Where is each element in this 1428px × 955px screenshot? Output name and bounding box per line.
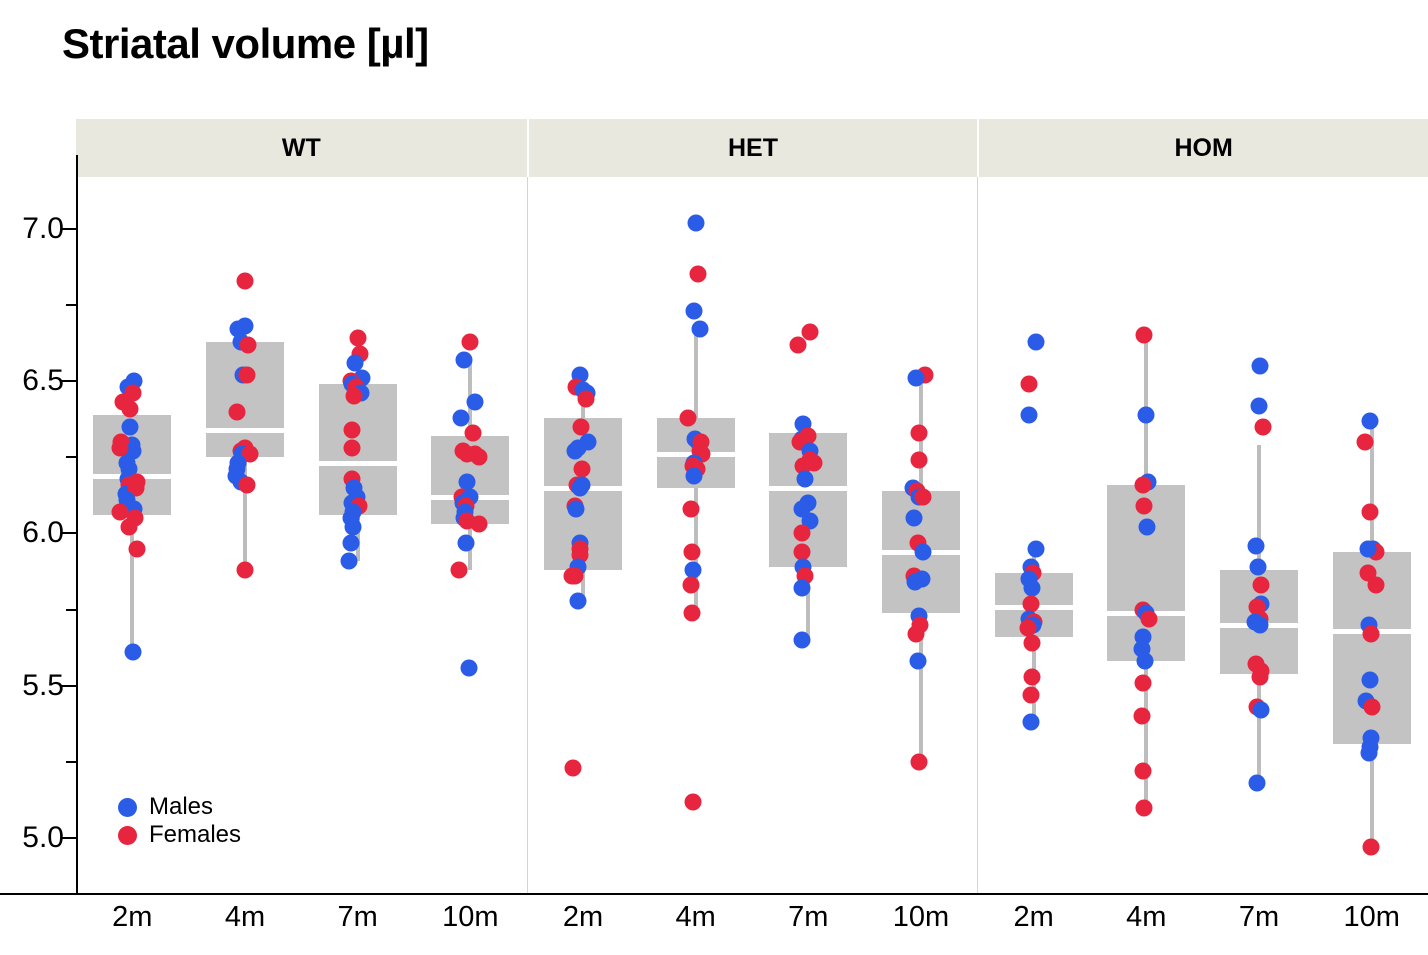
x-tick-label: 4m bbox=[676, 901, 716, 934]
data-point-male bbox=[1027, 540, 1044, 557]
y-tick-major bbox=[62, 228, 76, 230]
data-point-female bbox=[1136, 498, 1153, 515]
data-point-female bbox=[1367, 577, 1384, 594]
data-point-male bbox=[1359, 540, 1376, 557]
data-point-female bbox=[239, 367, 256, 384]
data-point-male bbox=[684, 562, 701, 579]
y-tick-minor bbox=[66, 761, 76, 763]
data-point-female bbox=[229, 403, 246, 420]
data-point-female bbox=[1356, 434, 1373, 451]
y-tick-major bbox=[62, 837, 76, 839]
data-point-female bbox=[679, 409, 696, 426]
x-tick-label: 10m bbox=[893, 901, 949, 934]
data-point-male bbox=[1250, 558, 1267, 575]
data-point-female bbox=[1135, 674, 1152, 691]
panel-divider bbox=[977, 177, 978, 893]
x-tick-label: 7m bbox=[338, 901, 378, 934]
y-axis-line bbox=[76, 155, 78, 893]
data-point-male bbox=[1361, 671, 1378, 688]
data-point-male bbox=[797, 470, 814, 487]
data-point-female bbox=[682, 577, 699, 594]
facet-strip-hom: HOM bbox=[979, 119, 1428, 177]
data-point-female bbox=[794, 525, 811, 542]
data-point-male bbox=[344, 519, 361, 536]
data-point-female bbox=[578, 391, 595, 408]
data-point-female bbox=[911, 424, 928, 441]
data-point-female bbox=[915, 488, 932, 505]
data-point-male bbox=[340, 552, 357, 569]
x-tick-label: 7m bbox=[788, 901, 828, 934]
data-point-female bbox=[1255, 418, 1272, 435]
data-point-female bbox=[343, 421, 360, 438]
data-point-male bbox=[910, 653, 927, 670]
data-point-female bbox=[682, 501, 699, 518]
legend-swatch-m bbox=[118, 798, 137, 817]
facet-label: HET bbox=[728, 134, 778, 163]
data-point-female bbox=[471, 516, 488, 533]
data-point-male bbox=[567, 443, 584, 460]
data-point-female bbox=[911, 753, 928, 770]
data-point-male bbox=[1252, 357, 1269, 374]
data-point-male bbox=[1253, 702, 1270, 719]
data-point-male bbox=[1027, 333, 1044, 350]
data-point-female bbox=[1022, 595, 1039, 612]
x-tick-label: 2m bbox=[1014, 901, 1054, 934]
data-point-female bbox=[564, 568, 581, 585]
data-point-female bbox=[1023, 635, 1040, 652]
data-point-female bbox=[1253, 577, 1270, 594]
data-point-male bbox=[907, 574, 924, 591]
data-point-male bbox=[458, 534, 475, 551]
data-point-female bbox=[689, 266, 706, 283]
data-point-female bbox=[911, 452, 928, 469]
data-point-male bbox=[568, 501, 585, 518]
boxplot-median bbox=[319, 461, 397, 466]
x-tick-label: 10m bbox=[442, 901, 498, 934]
data-point-male bbox=[1360, 744, 1377, 761]
facet-panel-hom bbox=[977, 177, 1428, 893]
y-tick-label: 5.5 bbox=[22, 669, 64, 703]
boxplot-median bbox=[206, 428, 284, 433]
data-point-female bbox=[129, 540, 146, 557]
facet-label: HOM bbox=[1174, 134, 1232, 163]
data-point-male bbox=[1361, 412, 1378, 429]
data-point-female bbox=[1134, 708, 1151, 725]
data-point-male bbox=[1139, 519, 1156, 536]
y-tick-major bbox=[62, 380, 76, 382]
y-tick-label: 6.0 bbox=[22, 516, 64, 550]
legend-label: Males bbox=[149, 793, 213, 821]
data-point-male bbox=[1249, 775, 1266, 792]
facet-panel-wt bbox=[76, 177, 527, 893]
y-tick-label: 6.5 bbox=[22, 364, 64, 398]
y-tick-label: 5.0 bbox=[22, 821, 64, 855]
data-point-female bbox=[684, 793, 701, 810]
data-point-female bbox=[1252, 668, 1269, 685]
data-point-male bbox=[915, 543, 932, 560]
plot-area: WTHETHOM bbox=[76, 119, 1428, 893]
x-axis-line bbox=[0, 893, 1428, 895]
data-point-male bbox=[572, 479, 589, 496]
data-point-male bbox=[122, 418, 139, 435]
legend-swatch-f bbox=[118, 826, 137, 845]
data-point-male bbox=[685, 467, 702, 484]
data-point-female bbox=[790, 336, 807, 353]
data-point-female bbox=[1023, 668, 1040, 685]
data-point-female bbox=[121, 519, 138, 536]
data-point-female bbox=[1361, 504, 1378, 521]
facet-strip-wt: WT bbox=[76, 119, 527, 177]
page-title: Striatal volume [µl] bbox=[62, 20, 429, 68]
data-point-female bbox=[345, 388, 362, 405]
y-tick-minor bbox=[66, 456, 76, 458]
data-point-female bbox=[462, 333, 479, 350]
data-point-male bbox=[1252, 616, 1269, 633]
data-point-female bbox=[1363, 699, 1380, 716]
data-point-female bbox=[1022, 686, 1039, 703]
data-point-male bbox=[908, 370, 925, 387]
y-tick-minor bbox=[66, 304, 76, 306]
data-point-male bbox=[794, 580, 811, 597]
data-point-female bbox=[683, 543, 700, 560]
x-tick-label: 4m bbox=[1126, 901, 1166, 934]
data-point-male bbox=[1022, 714, 1039, 731]
data-point-female bbox=[240, 336, 257, 353]
y-tick-major bbox=[62, 685, 76, 687]
data-point-male bbox=[691, 321, 708, 338]
data-point-female bbox=[1141, 610, 1158, 627]
data-point-female bbox=[465, 424, 482, 441]
x-tick-label: 4m bbox=[225, 901, 265, 934]
data-point-female bbox=[1362, 626, 1379, 643]
data-point-female bbox=[1020, 376, 1037, 393]
x-tick-label: 10m bbox=[1343, 901, 1399, 934]
data-point-female bbox=[908, 626, 925, 643]
data-point-male bbox=[342, 534, 359, 551]
x-tick-label: 2m bbox=[112, 901, 152, 934]
data-point-male bbox=[570, 592, 587, 609]
data-point-male bbox=[461, 659, 478, 676]
y-tick-major bbox=[62, 532, 76, 534]
data-point-female bbox=[1019, 619, 1036, 636]
data-point-female bbox=[1135, 476, 1152, 493]
y-tick-minor bbox=[66, 609, 76, 611]
data-point-female bbox=[239, 476, 256, 493]
legend-item-m: Males bbox=[118, 793, 241, 821]
legend-label: Females bbox=[149, 821, 241, 849]
y-tick-label: 7.0 bbox=[22, 212, 64, 246]
data-point-female bbox=[1136, 327, 1153, 344]
panel-divider bbox=[527, 177, 528, 893]
data-point-male bbox=[125, 644, 142, 661]
legend-item-f: Females bbox=[118, 821, 241, 849]
data-point-male bbox=[687, 214, 704, 231]
data-point-male bbox=[1248, 537, 1265, 554]
data-point-female bbox=[237, 272, 254, 289]
data-point-female bbox=[451, 562, 468, 579]
data-point-male bbox=[794, 632, 811, 649]
x-tick-label: 7m bbox=[1239, 901, 1279, 934]
data-point-male bbox=[1137, 653, 1154, 670]
data-point-female bbox=[237, 562, 254, 579]
data-point-male bbox=[456, 351, 473, 368]
data-point-male bbox=[1251, 397, 1268, 414]
data-point-female bbox=[1136, 799, 1153, 816]
data-point-male bbox=[1020, 406, 1037, 423]
data-point-female bbox=[1135, 763, 1152, 780]
data-point-female bbox=[683, 604, 700, 621]
data-point-male bbox=[685, 303, 702, 320]
data-point-female bbox=[565, 760, 582, 777]
data-point-female bbox=[122, 400, 139, 417]
data-point-female bbox=[343, 440, 360, 457]
data-point-male bbox=[453, 409, 470, 426]
x-tick-label: 2m bbox=[563, 901, 603, 934]
data-point-female bbox=[1362, 839, 1379, 856]
data-point-male bbox=[467, 394, 484, 411]
data-point-female bbox=[471, 449, 488, 466]
facet-label: WT bbox=[282, 134, 321, 163]
facet-strip-het: HET bbox=[529, 119, 978, 177]
chart-legend: MalesFemales bbox=[118, 793, 241, 849]
chart-root: Striatal volume [µl] WTHETHOM 5.05.56.06… bbox=[0, 0, 1428, 955]
data-point-male bbox=[1138, 406, 1155, 423]
data-point-male bbox=[906, 510, 923, 527]
